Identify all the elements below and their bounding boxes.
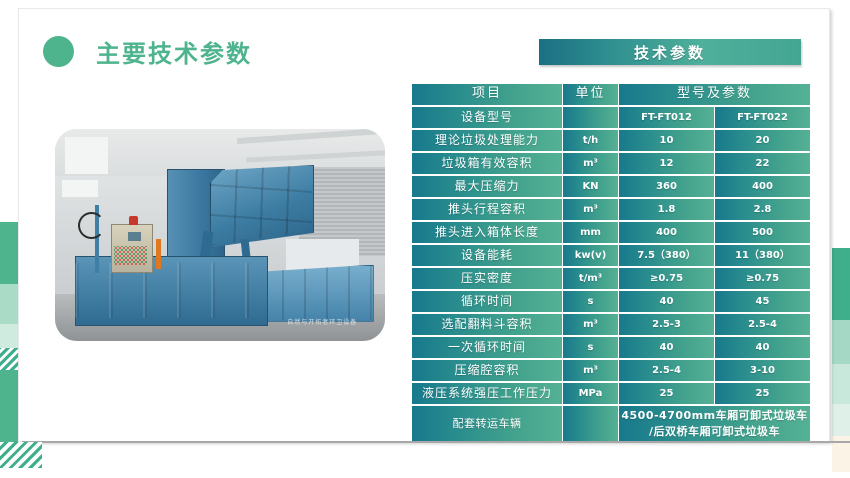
cell-unit: s: [563, 291, 618, 312]
cell-unit: m³: [563, 314, 618, 335]
cell-label: 设备型号: [412, 107, 562, 128]
cell-value-1: 400: [619, 222, 714, 243]
cell-value-1: 25: [619, 383, 714, 404]
cell-value-1: 1.8: [619, 199, 714, 220]
page-title-text: 主要技术参数: [96, 34, 252, 69]
cell-value-2: ≥0.75: [715, 268, 810, 289]
cell-value-2: 11（380）: [715, 245, 810, 266]
photo-window: [65, 137, 108, 173]
product-photo: 自然与开拓者环卫设备: [55, 129, 385, 341]
table-row: 压缩腔容积m³2.5-43-10: [412, 360, 810, 381]
cell-label: 设备能耗: [412, 245, 562, 266]
cell-label: 压缩腔容积: [412, 360, 562, 381]
deco-r-band-4: [832, 404, 850, 436]
header-cell-unit: 单位: [563, 84, 618, 105]
cell-unit: mm: [563, 222, 618, 243]
photo-warning-lamp-icon: [129, 216, 137, 226]
cell-value-1: 7.5（380）: [619, 245, 714, 266]
photo-machine-body-ribs: [75, 263, 266, 318]
table-row: 选配翻料斗容积m³2.5-32.5-4: [412, 314, 810, 335]
cell-value-2: 22: [715, 153, 810, 174]
bottom-divider: [22, 441, 850, 443]
cell-label: 选配翻料斗容积: [412, 314, 562, 335]
cell-unit: m³: [563, 360, 618, 381]
table-header-row: 项目 单位 型号及参数: [412, 84, 810, 105]
photo-window: [62, 180, 98, 197]
cell-unit: [563, 406, 618, 442]
cell-value-1: 40: [619, 337, 714, 358]
table-row: 推头行程容积m³1.82.8: [412, 199, 810, 220]
table-row: 一次循环时间s4040: [412, 337, 810, 358]
bullet-dot-icon: [43, 36, 74, 67]
page-title: 主要技术参数: [43, 34, 252, 69]
cell-label: 压实密度: [412, 268, 562, 289]
cell-value-2: 2.5-4: [715, 314, 810, 335]
photo-cable-coil: [78, 212, 105, 239]
cell-label: 最大压缩力: [412, 176, 562, 197]
cell-value-1: 40: [619, 291, 714, 312]
cell-value-1: 2.5-4: [619, 360, 714, 381]
cell-unit: [563, 107, 618, 128]
cell-value-2: 25: [715, 383, 810, 404]
table-row-footer: 配套转运车辆 4500-4700mm车厢可卸式垃圾车 /后双桥车厢可卸式垃圾车: [412, 406, 810, 442]
cell-value-1: 10: [619, 130, 714, 151]
cell-unit: kw(v): [563, 245, 618, 266]
table-row: 最大压缩力KN360400: [412, 176, 810, 197]
photo-orange-post: [156, 239, 161, 269]
cell-vehicle-value: 4500-4700mm车厢可卸式垃圾车 /后双桥车厢可卸式垃圾车: [619, 406, 810, 442]
cell-label: 推头行程容积: [412, 199, 562, 220]
cell-label: 一次循环时间: [412, 337, 562, 358]
product-photo-canvas: 自然与开拓者环卫设备: [55, 129, 385, 341]
cell-label: 循环时间: [412, 291, 562, 312]
deco-r-band-1: [832, 248, 850, 320]
cell-value-2: 40: [715, 337, 810, 358]
cell-unit: KN: [563, 176, 618, 197]
photo-control-panel-screen: [128, 232, 141, 242]
photo-container-cart-ribs: [260, 265, 372, 320]
header-cell-models: 型号及参数: [619, 84, 810, 105]
table-row-model: 设备型号 FT-FT012 FT-FT022: [412, 107, 810, 128]
photo-control-panel-buttons: [114, 246, 147, 265]
cell-label: 配套转运车辆: [412, 406, 562, 442]
cell-value-2: 400: [715, 176, 810, 197]
cell-model-2: FT-FT022: [715, 107, 810, 128]
cell-value-1: ≥0.75: [619, 268, 714, 289]
slide-card: 主要技术参数: [18, 8, 830, 442]
table-row: 理论垃圾处理能力t/h1020: [412, 130, 810, 151]
cell-value-2: 20: [715, 130, 810, 151]
corner-stripes-decoration: [0, 442, 42, 468]
right-edge-decoration: [832, 0, 850, 478]
table-row: 推头进入箱体长度mm400500: [412, 222, 810, 243]
deco-r-band-3: [832, 364, 850, 404]
cell-value-2: 2.8: [715, 199, 810, 220]
cell-value-1: 12: [619, 153, 714, 174]
spec-table: 项目 单位 型号及参数 设备型号 FT-FT012 FT-FT022 理论垃圾处…: [411, 82, 811, 444]
cell-unit: MPa: [563, 383, 618, 404]
cell-label: 液压系统强压工作压力: [412, 383, 562, 404]
photo-watermark: 自然与开拓者环卫设备: [266, 313, 378, 330]
table-row: 压实密度t/m³≥0.75≥0.75: [412, 268, 810, 289]
cell-unit: s: [563, 337, 618, 358]
section-banner-label: 技术参数: [634, 42, 706, 63]
cell-value-2: 45: [715, 291, 810, 312]
table-row: 循环时间s4045: [412, 291, 810, 312]
cell-label: 理论垃圾处理能力: [412, 130, 562, 151]
cell-unit: m³: [563, 199, 618, 220]
cell-unit: t/h: [563, 130, 618, 151]
table-row: 液压系统强压工作压力MPa2525: [412, 383, 810, 404]
cell-unit: m³: [563, 153, 618, 174]
header-cell-item: 项目: [412, 84, 562, 105]
cell-unit: t/m³: [563, 268, 618, 289]
cell-value-2: 500: [715, 222, 810, 243]
cell-label: 推头进入箱体长度: [412, 222, 562, 243]
table-row: 垃圾箱有效容积m³1222: [412, 153, 810, 174]
cell-value-2: 3-10: [715, 360, 810, 381]
section-banner: 技术参数: [539, 39, 801, 65]
cell-label: 垃圾箱有效容积: [412, 153, 562, 174]
table-row: 设备能耗kw(v)7.5（380）11（380）: [412, 245, 810, 266]
cell-value-1: 2.5-3: [619, 314, 714, 335]
spec-table-body: 项目 单位 型号及参数 设备型号 FT-FT012 FT-FT022 理论垃圾处…: [412, 84, 810, 442]
cell-model-1: FT-FT012: [619, 107, 714, 128]
cell-value-1: 360: [619, 176, 714, 197]
deco-r-band-2: [832, 320, 850, 364]
